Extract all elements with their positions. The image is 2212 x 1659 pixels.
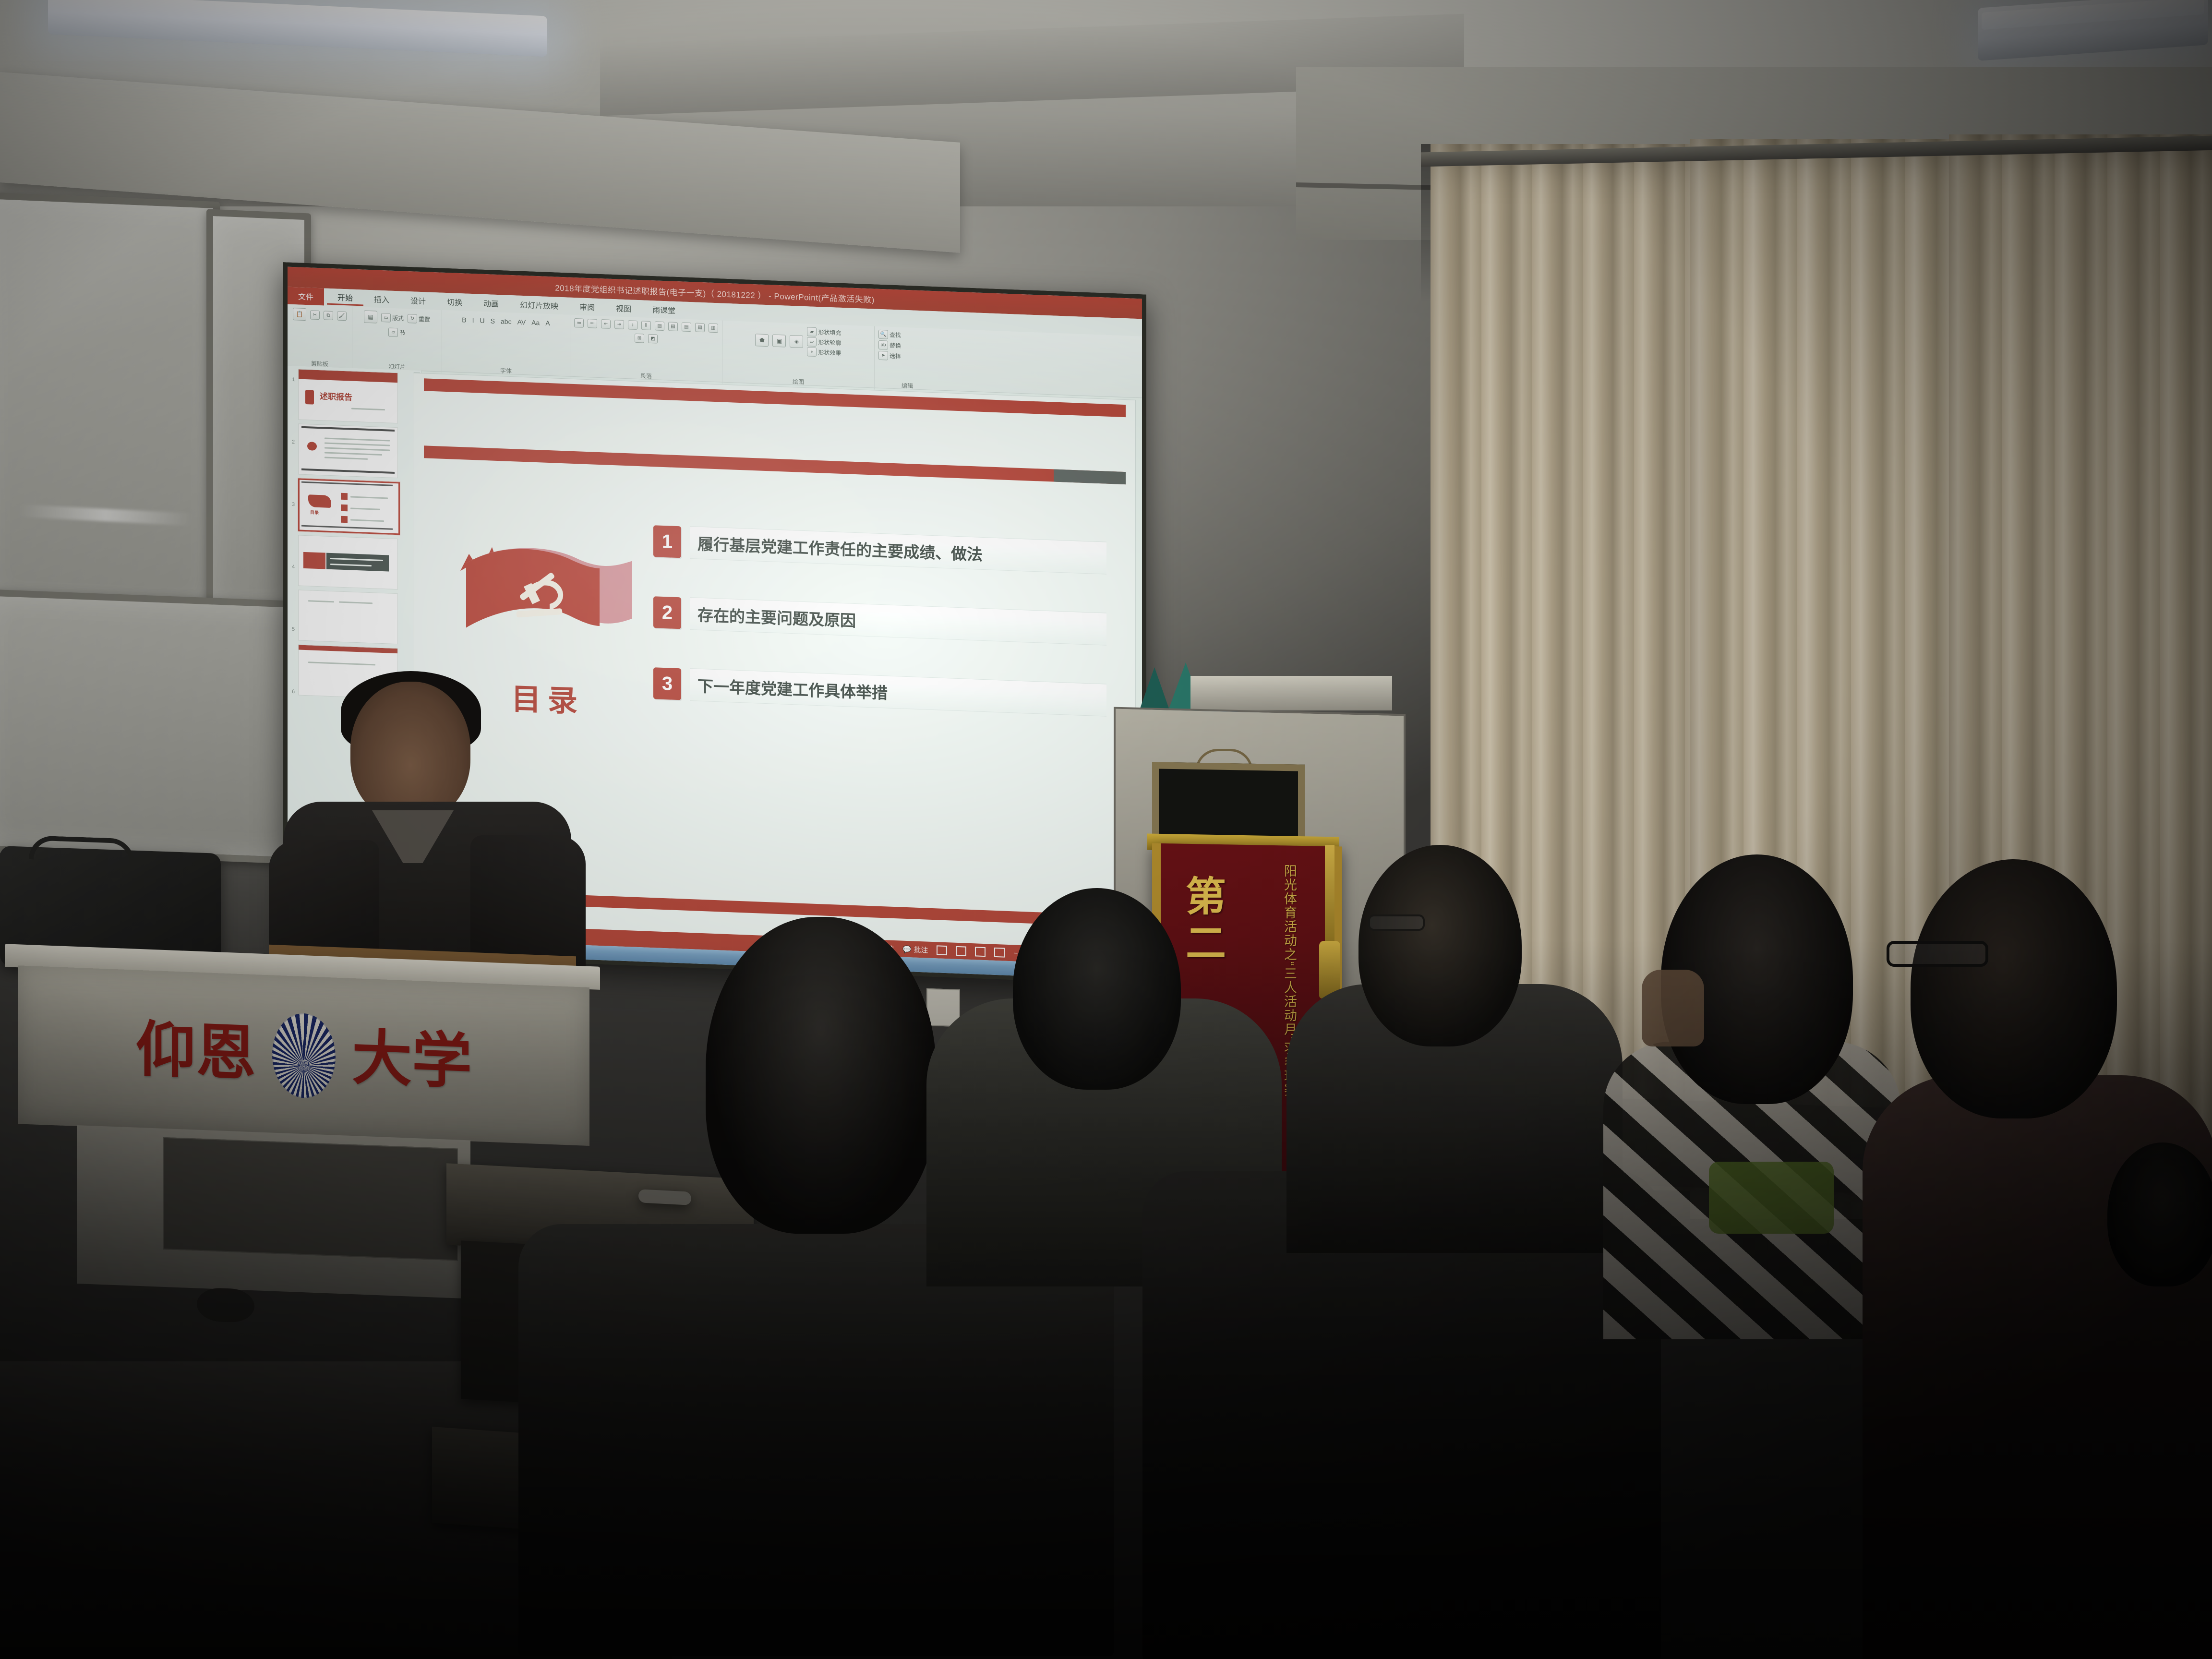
slide-decor-rule-upper bbox=[424, 445, 1126, 484]
toc-number-badge: 3 bbox=[653, 667, 681, 700]
layout-button[interactable]: ▭ 版式 bbox=[381, 313, 404, 323]
replace-button[interactable]: ab 替换 bbox=[878, 340, 901, 350]
reset-icon[interactable]: ↻ bbox=[408, 313, 417, 323]
thumbnail-caption: 述职报告 bbox=[320, 389, 352, 403]
reset-button[interactable]: ↻ 重置 bbox=[408, 313, 430, 324]
audience-hand-raised bbox=[1642, 970, 1704, 1046]
reset-label: 重置 bbox=[419, 314, 430, 323]
align-right-icon[interactable]: ▤ bbox=[682, 322, 691, 332]
audience-body-front-left bbox=[518, 1224, 1114, 1656]
align-text-icon[interactable]: ⊞ bbox=[635, 334, 644, 343]
whiteboard-panel-left bbox=[0, 192, 220, 619]
select-arrow-icon[interactable]: ➤ bbox=[878, 351, 888, 361]
select-button[interactable]: ➤ 选择 bbox=[878, 351, 901, 361]
bold-icon[interactable]: B bbox=[461, 314, 467, 326]
tab-design[interactable]: 设计 bbox=[400, 293, 436, 308]
shape-outline-label: 形状轮廓 bbox=[818, 338, 841, 347]
eyeglasses-on-desk bbox=[638, 1189, 691, 1205]
slide-sorter-view-icon[interactable] bbox=[956, 946, 966, 956]
cabinet-top-clutter bbox=[1190, 676, 1392, 710]
shape-effects-icon[interactable]: ◗ bbox=[807, 347, 817, 357]
shapes-icon[interactable]: ⬟ bbox=[755, 334, 769, 347]
thumbnail-caption: 目录 bbox=[310, 509, 319, 516]
strikethrough-icon[interactable]: abc bbox=[500, 315, 513, 327]
underline-icon[interactable]: U bbox=[479, 315, 486, 327]
shape-outline-icon[interactable]: ▱ bbox=[807, 337, 817, 347]
tab-view[interactable]: 视图 bbox=[605, 301, 642, 315]
justify-icon[interactable]: ▤ bbox=[695, 323, 705, 332]
paste-icon[interactable]: 📋 bbox=[293, 308, 306, 321]
shape-fill-icon[interactable]: ▰ bbox=[807, 327, 817, 337]
align-left-icon[interactable]: ▤ bbox=[655, 321, 664, 331]
align-center-icon[interactable]: ▤ bbox=[668, 322, 678, 331]
tab-insert[interactable]: 插入 bbox=[363, 292, 400, 307]
toc-item-text: 履行基层党建工作责任的主要成绩、做法 bbox=[690, 526, 1106, 575]
toc-item-1[interactable]: 1 履行基层党建工作责任的主要成绩、做法 bbox=[653, 524, 1106, 575]
tab-file[interactable]: 文件 bbox=[288, 287, 324, 306]
slide-toc-list: 1 履行基层党建工作责任的主要成绩、做法 2 存在的主要问题及原因 3 下一年度… bbox=[653, 524, 1106, 754]
presenter-head bbox=[350, 682, 470, 821]
font-color-icon[interactable]: A bbox=[544, 317, 551, 329]
tab-rain-classroom[interactable]: 雨课堂 bbox=[642, 302, 686, 317]
slide-number: 3 bbox=[289, 493, 298, 556]
section-icon[interactable]: ▱ bbox=[388, 327, 398, 337]
toc-item-2[interactable]: 2 存在的主要问题及原因 bbox=[653, 595, 1106, 646]
section-label: 节 bbox=[399, 328, 405, 337]
slide-number: 1 bbox=[289, 369, 298, 432]
eyeglasses-icon bbox=[1368, 914, 1425, 931]
tab-transitions[interactable]: 切换 bbox=[436, 294, 473, 309]
decrease-indent-icon[interactable]: ⇤ bbox=[601, 319, 611, 329]
shape-effects-button[interactable]: ◗ 形状效果 bbox=[807, 347, 841, 358]
layout-label: 版式 bbox=[392, 313, 404, 322]
toc-item-3[interactable]: 3 下一年度党建工作具体举措 bbox=[653, 666, 1106, 717]
text-direction-icon[interactable]: ⦀ bbox=[641, 321, 651, 330]
university-seal-logo bbox=[272, 1012, 336, 1099]
copy-icon[interactable]: ⧉ bbox=[324, 311, 333, 320]
shape-fill-label: 形状填充 bbox=[818, 328, 841, 337]
thumbnail-slide-5[interactable] bbox=[298, 589, 398, 644]
tab-home[interactable]: 开始 bbox=[327, 289, 363, 306]
podium-branding: 仰恩 大学 bbox=[18, 999, 589, 1112]
shape-outline-button[interactable]: ▱ 形状轮廓 bbox=[807, 337, 841, 348]
columns-icon[interactable]: ▥ bbox=[709, 324, 718, 333]
comments-toggle-button[interactable]: 💬 批注 bbox=[902, 944, 928, 955]
replace-icon[interactable]: ab bbox=[878, 340, 888, 350]
comments-label: 批注 bbox=[914, 944, 928, 955]
thumbnail-slide-4[interactable] bbox=[298, 535, 398, 589]
thumbnail-slide-2[interactable] bbox=[298, 423, 398, 478]
audience-head-glasses bbox=[1358, 845, 1522, 1046]
banner-rank-text: 第二 bbox=[1186, 874, 1243, 966]
tab-slideshow[interactable]: 幻灯片放映 bbox=[509, 297, 569, 313]
toc-item-text: 存在的主要问题及原因 bbox=[690, 597, 1106, 646]
normal-view-icon[interactable] bbox=[937, 945, 947, 955]
change-case-icon[interactable]: Aa bbox=[530, 317, 541, 329]
classroom-scene: 2018年度党组织书记述职报告(电子一支)（ 20181222 ） - Powe… bbox=[0, 0, 2212, 1659]
bullets-icon[interactable]: ≔ bbox=[574, 318, 584, 328]
ribbon-group-font[interactable]: B I U S abc AV Aa A 字体 bbox=[442, 310, 570, 378]
podium-front-panel: 仰恩 大学 bbox=[18, 965, 589, 1146]
format-painter-icon[interactable]: 🖌 bbox=[337, 311, 347, 321]
shapes-button[interactable]: ⬟ bbox=[755, 334, 769, 347]
comment-bubble-icon: 💬 bbox=[902, 945, 911, 953]
ribbon-group-label-editing: 编辑 bbox=[875, 381, 940, 391]
shadow-icon[interactable]: S bbox=[490, 315, 496, 327]
ribbon-group-slides[interactable]: ▤ ▭ 版式 ↻ 重置 ▱ 节 幻 bbox=[352, 307, 442, 373]
quick-styles-icon[interactable]: ◈ bbox=[790, 335, 803, 348]
audience-head-far-right bbox=[2107, 1142, 2212, 1286]
convert-smartart-icon[interactable]: ◩ bbox=[648, 334, 658, 344]
ribbon-group-editing[interactable]: 🔍 查找 ab 替换 ➤ 选择 编辑 bbox=[875, 326, 940, 392]
slide-decor-grey-block bbox=[1054, 469, 1126, 485]
select-label: 选择 bbox=[890, 352, 901, 361]
lectern-podium: 仰恩 大学 bbox=[5, 944, 600, 1168]
find-label: 查找 bbox=[890, 331, 901, 339]
tab-review[interactable]: 审阅 bbox=[569, 300, 605, 314]
quick-styles-button[interactable]: ◈ bbox=[790, 335, 803, 348]
italic-icon[interactable]: I bbox=[471, 314, 475, 326]
toc-item-text: 下一年度党建工作具体举措 bbox=[690, 668, 1106, 717]
increase-indent-icon[interactable]: ⇥ bbox=[614, 320, 624, 329]
thumbnail-slide-1[interactable]: 述职报告 bbox=[298, 369, 398, 423]
section-button[interactable]: ▱ 节 bbox=[388, 327, 405, 337]
coat-green-accent bbox=[1709, 1162, 1834, 1234]
audience-head-front-left bbox=[706, 917, 936, 1234]
line-spacing-icon[interactable]: ↕ bbox=[628, 320, 637, 330]
shape-effects-label: 形状效果 bbox=[818, 348, 841, 357]
shape-fill-button[interactable]: ▰ 形状填充 bbox=[807, 327, 841, 337]
podium-brand-right-text: 大学 bbox=[352, 1027, 472, 1092]
slide-number: 5 bbox=[289, 618, 298, 681]
slide-number: 4 bbox=[289, 556, 298, 619]
banner-tassel bbox=[1325, 845, 1334, 946]
podium-equipment-panel bbox=[163, 1137, 458, 1261]
toc-number-badge: 1 bbox=[653, 525, 681, 558]
find-icon[interactable]: 🔍 bbox=[878, 330, 888, 339]
slideshow-view-icon[interactable] bbox=[994, 948, 1005, 958]
tab-animations[interactable]: 动画 bbox=[473, 296, 509, 311]
eyeglasses-right-icon bbox=[1887, 941, 1988, 967]
arrange-icon[interactable]: ▣ bbox=[772, 334, 786, 347]
audience-head-right bbox=[1911, 859, 2117, 1118]
new-slide-icon[interactable]: ▤ bbox=[364, 311, 377, 324]
audience-head-hooded bbox=[1013, 888, 1181, 1090]
ribbon-group-paragraph[interactable]: ≔ ≕ ⇤ ⇥ ↕ ⦀ ▤ ▤ ▤ ▤ ▥ ⊞ ◩ 段落 bbox=[570, 315, 722, 384]
replace-label: 替换 bbox=[890, 341, 901, 350]
cut-scissors-icon[interactable]: ✂ bbox=[310, 310, 320, 320]
arrange-button[interactable]: ▣ bbox=[772, 334, 786, 347]
reading-view-icon[interactable] bbox=[975, 947, 986, 957]
podium-brand-left-text: 仰恩 bbox=[136, 1019, 256, 1084]
layout-icon[interactable]: ▭ bbox=[381, 313, 391, 322]
numbering-icon[interactable]: ≕ bbox=[588, 319, 597, 328]
character-spacing-icon[interactable]: AV bbox=[517, 316, 527, 328]
ribbon-group-clipboard[interactable]: 📋 ✂ ⧉ 🖌 剪贴板 bbox=[288, 304, 352, 370]
slide-number: 2 bbox=[289, 431, 298, 494]
thumbnail-slide-3[interactable]: 目录 bbox=[298, 478, 400, 535]
whiteboard-panel-lower bbox=[0, 589, 311, 865]
toc-number-badge: 2 bbox=[653, 596, 681, 629]
ribbon-group-drawing[interactable]: ⬟ ▣ ◈ ▰ 形状填充 bbox=[722, 321, 875, 390]
find-button[interactable]: 🔍 查找 bbox=[878, 330, 901, 340]
